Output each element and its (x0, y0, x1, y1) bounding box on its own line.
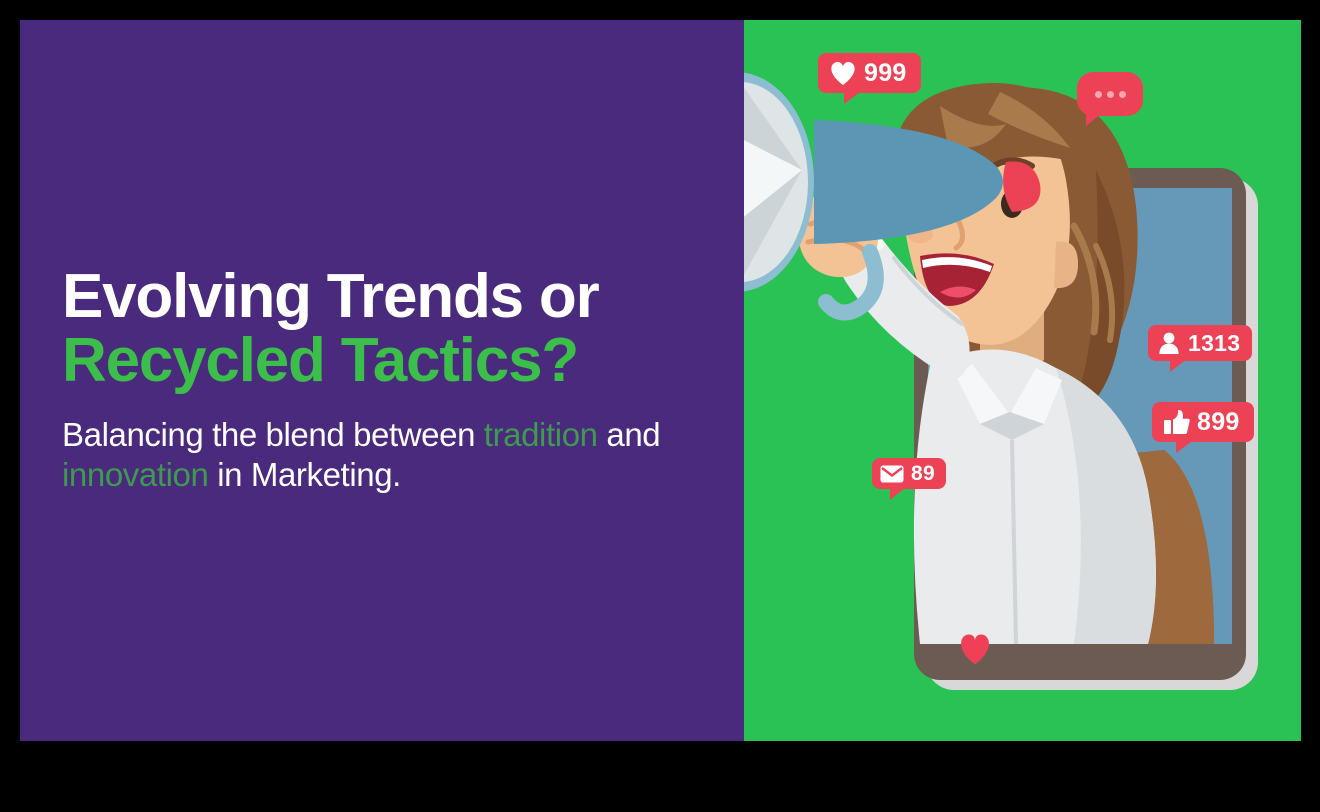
subheadline-accent-innovation: innovation (62, 456, 208, 493)
thumbs-count: 899 (1197, 410, 1240, 435)
left-text-panel: Evolving Trends or Recycled Tactics? Bal… (20, 20, 744, 741)
marketing-banner: Evolving Trends or Recycled Tactics? Bal… (20, 20, 1301, 741)
subheadline-part-2: and (598, 416, 661, 453)
likes-count: 999 (864, 61, 907, 86)
subheadline-part-3: in Marketing. (208, 456, 400, 493)
headline-line-1: Evolving Trends or (62, 265, 722, 329)
followers-count: 1313 (1188, 332, 1240, 355)
thumbs-badge: 899 (1152, 402, 1254, 442)
social-media-illustration (744, 20, 1301, 741)
chat-bubble-icon (1077, 72, 1143, 116)
right-illustration-panel: 999 1313 899 (744, 20, 1301, 741)
thumbs-up-icon (1163, 409, 1190, 435)
subheadline: Balancing the blend between tradition an… (62, 415, 722, 496)
messages-count: 89 (911, 463, 935, 484)
page-title: Evolving Trends or Recycled Tactics? (62, 265, 722, 393)
envelope-icon (880, 465, 904, 483)
messages-badge: 89 (872, 458, 946, 489)
subheadline-part-1: Balancing the blend between (62, 416, 484, 453)
headline-line-2: Recycled Tactics? (62, 329, 722, 393)
followers-badge: 1313 (1148, 325, 1252, 361)
likes-badge: 999 (818, 53, 921, 93)
heart-icon (829, 60, 857, 86)
text-block: Evolving Trends or Recycled Tactics? Bal… (62, 265, 722, 495)
chat-dot (1119, 91, 1126, 98)
screenshot-root: Evolving Trends or Recycled Tactics? Bal… (0, 0, 1320, 812)
person-icon (1157, 331, 1181, 355)
chat-dot (1095, 91, 1102, 98)
subheadline-accent-tradition: tradition (484, 416, 598, 453)
chat-dot (1107, 91, 1114, 98)
